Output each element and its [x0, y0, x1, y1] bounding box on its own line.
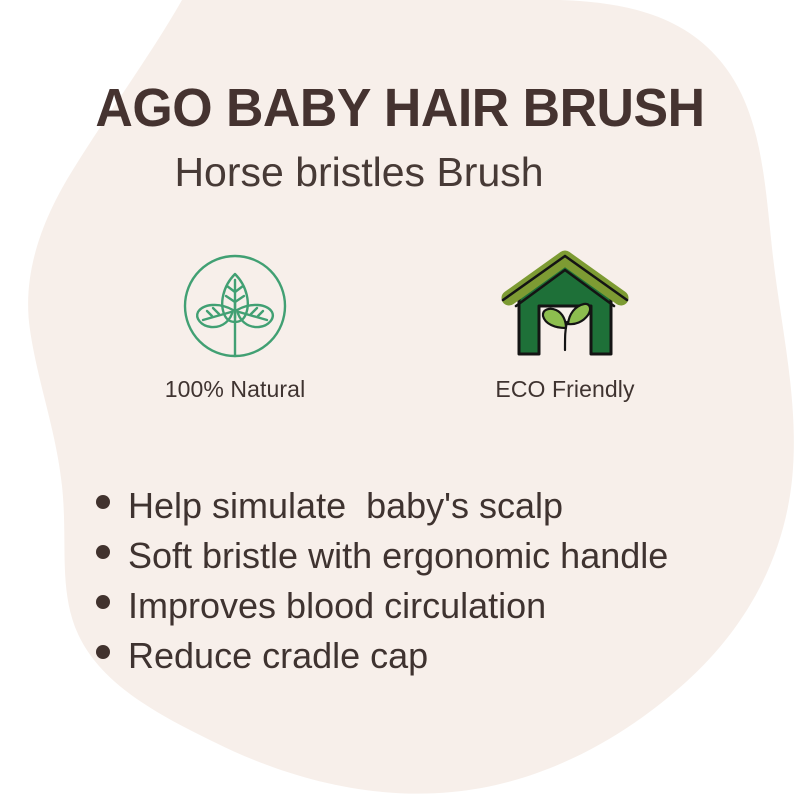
greenhouse-icon	[499, 250, 631, 362]
badge-natural-label: 100% Natural	[165, 376, 306, 403]
badge-natural: 100% Natural	[120, 250, 350, 403]
list-item: Reduce cradle cap	[96, 631, 776, 681]
plant-in-circle-icon	[179, 250, 291, 362]
list-item: Improves blood circulation	[96, 581, 776, 631]
list-item: Help simulate baby's scalp	[96, 481, 776, 531]
bullet-dot-icon	[96, 645, 110, 659]
bullet-dot-icon	[96, 545, 110, 559]
poster-content: AGO BABY HAIR BRUSH Horse bristles Brush	[0, 0, 800, 800]
badge-eco-label: ECO Friendly	[495, 376, 634, 403]
bullet-dot-icon	[96, 595, 110, 609]
product-feature-poster: AGO BABY HAIR BRUSH Horse bristles Brush	[0, 0, 800, 800]
feature-list: Help simulate baby's scalp Soft bristle …	[96, 481, 776, 681]
bullet-dot-icon	[96, 495, 110, 509]
badge-natural-art	[179, 250, 291, 362]
feature-text: Improves blood circulation	[128, 581, 546, 631]
feature-text: Help simulate baby's scalp	[128, 481, 563, 531]
badge-row: 100% Natural	[120, 250, 680, 410]
page-subtitle: Horse bristles Brush	[0, 147, 800, 197]
badge-eco: ECO Friendly	[450, 250, 680, 403]
page-title: AGO BABY HAIR BRUSH	[16, 79, 784, 137]
feature-text: Reduce cradle cap	[128, 631, 428, 681]
badge-eco-art	[499, 250, 631, 362]
list-item: Soft bristle with ergonomic handle	[96, 531, 776, 581]
feature-text: Soft bristle with ergonomic handle	[128, 531, 668, 581]
